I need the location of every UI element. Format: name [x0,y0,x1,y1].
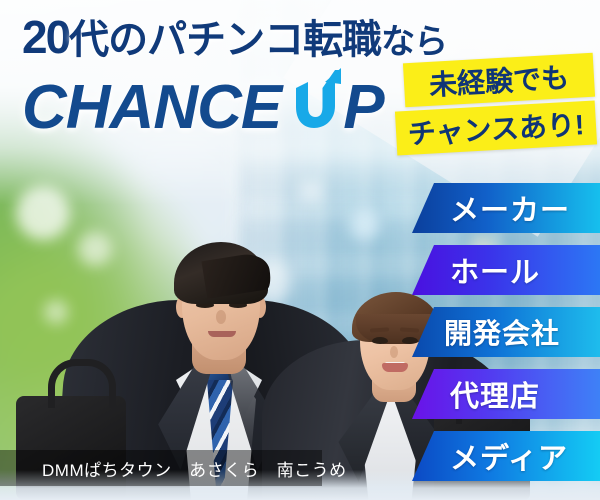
credit-text: DMMぱちタウン あさくら 南こうめ [42,456,347,481]
male-nose [216,310,226,324]
category-button-media[interactable]: メディア [412,431,600,481]
credit-bar: DMMぱちタウン あさくら 南こうめ [0,450,322,486]
promo-banner: 20代のパチンコ転職なら CHANCEP 未経験でも チャンスあり! メーカー … [0,0,600,500]
headline-block: 20代のパチンコ転職なら CHANCEP [22,14,447,139]
male-mouth [208,331,236,337]
category-label-agency: 代理店 [450,373,540,415]
headline-line-1: 20代のパチンコ転職なら [22,14,447,60]
chance-up-u-swoosh-icon [295,66,343,128]
category-label-developer: 開発会社 [444,312,560,352]
badge-chance-available-label: チャンスあり! [407,103,585,153]
category-label-maker: メーカー [450,187,570,229]
category-button-maker[interactable]: メーカー [412,183,600,233]
headline-up-p-letter: P [343,77,383,139]
male-briefcase-handle [48,359,116,408]
headline-line-2: CHANCEP [22,66,447,139]
female-nose [390,346,398,358]
female-mouth [382,363,408,372]
headline-line-1-body: 代のパチンコ転職 [69,18,381,62]
headline-age-number: 20 [22,11,69,63]
headline-chance-word: CHANCE [22,77,281,139]
category-button-hall[interactable]: ホール [412,245,600,295]
category-button-developer[interactable]: 開発会社 [412,307,600,357]
badge-no-experience-label: 未経験でも [428,56,570,104]
category-label-media: メディア [450,435,568,477]
female-eye-left [372,337,388,344]
category-label-hall: ホール [450,249,540,291]
category-button-agency[interactable]: 代理店 [412,369,600,419]
headline-line-1-tail: なら [381,23,447,61]
female-eye-right [402,337,418,344]
